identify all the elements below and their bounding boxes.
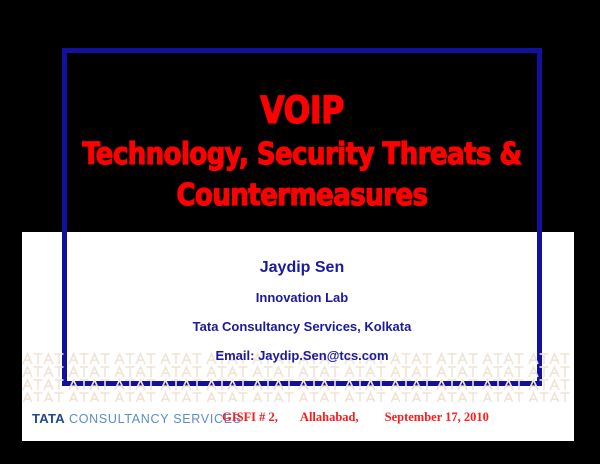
tcs-logo-tata-text: TATA [32,411,65,426]
tcs-logo: TATACONSULTANCY SERVICES [32,410,242,428]
author-name: Jaydip Sen [62,253,542,283]
slide-title: VOIP Technology, Security Threats & Coun… [62,88,542,216]
title-line-main: VOIP [74,88,530,134]
author-email: Email: Jaydip.Sen@tcs.com [62,341,542,370]
tcs-logo-consultancy-services-text: CONSULTANCY SERVICES [69,412,242,426]
event-location: Allahabad, [300,410,359,425]
slide-footer: TATACONSULTANCY SERVICES GISFI # 2,Allah… [22,402,574,441]
event-info: GISFI # 2,Allahabad,September 17, 2010 [222,410,489,425]
title-line-subtitle-1: Technology, Security Threats & [72,134,533,175]
author-company: Tata Consultancy Services, Kolkata [62,312,542,341]
event-date: September 17, 2010 [385,410,489,425]
author-info-block: Jaydip Sen Innovation Lab Tata Consultan… [62,253,542,370]
presentation-slide: VOIP Technology, Security Threats & Coun… [22,0,574,441]
screenshot-viewport: VOIP Technology, Security Threats & Coun… [0,0,600,464]
event-name: GISFI # 2, [222,410,278,425]
author-organization: Innovation Lab [62,283,542,312]
title-line-subtitle-2: Countermeasures [72,175,533,216]
